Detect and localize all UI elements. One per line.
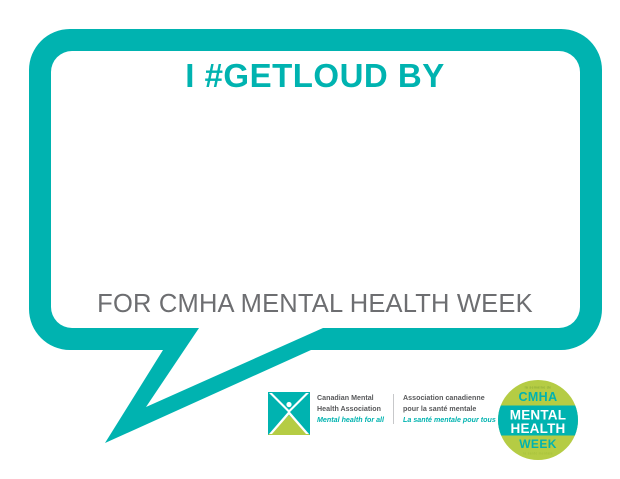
cmha-fr-line2: pour la santé mentale: [403, 404, 496, 415]
mhw-top-label-text: CMHA: [518, 390, 557, 404]
mhw-top-micro-text: la semaine de: [525, 385, 552, 389]
mhw-bottom-micro-text: la santé mentale: [523, 452, 553, 456]
cmha-en-line1: Canadian Mental: [317, 393, 384, 404]
cmha-wordmarks: Canadian Mental Health Association Menta…: [317, 392, 496, 426]
mhw-bottom-label-text: WEEK: [519, 437, 557, 451]
cmha-fr-tagline: La santé mentale pour tous: [403, 415, 496, 426]
cmha-fr-line1: Association canadienne: [403, 393, 496, 404]
cmha-logo-divider: [393, 394, 394, 424]
mhw-band-line2-text: HEALTH: [511, 421, 566, 436]
mental-health-week-badge: la semaine de CMHA MENTAL HEALTH WEEK la…: [497, 379, 579, 461]
poster-canvas: I #GETLOUD BY FOR CMHA MENTAL HEALTH WEE…: [0, 0, 620, 479]
bubble-text-layer: I #GETLOUD BY FOR CMHA MENTAL HEALTH WEE…: [62, 50, 568, 324]
cmha-wordmark-french: Association canadienne pour la santé men…: [403, 393, 496, 426]
subline-text: FOR CMHA MENTAL HEALTH WEEK: [62, 290, 568, 318]
cmha-en-tagline: Mental health for all: [317, 415, 384, 426]
headline-text: I #GETLOUD BY: [62, 58, 568, 94]
cmha-wordmark-english: Canadian Mental Health Association Menta…: [317, 393, 384, 426]
mhw-badge-icon: la semaine de CMHA MENTAL HEALTH WEEK la…: [497, 379, 579, 461]
cmha-logo: Canadian Mental Health Association Menta…: [268, 392, 496, 435]
cmha-logo-mark-icon: [268, 392, 310, 435]
cmha-en-line2: Health Association: [317, 404, 384, 415]
